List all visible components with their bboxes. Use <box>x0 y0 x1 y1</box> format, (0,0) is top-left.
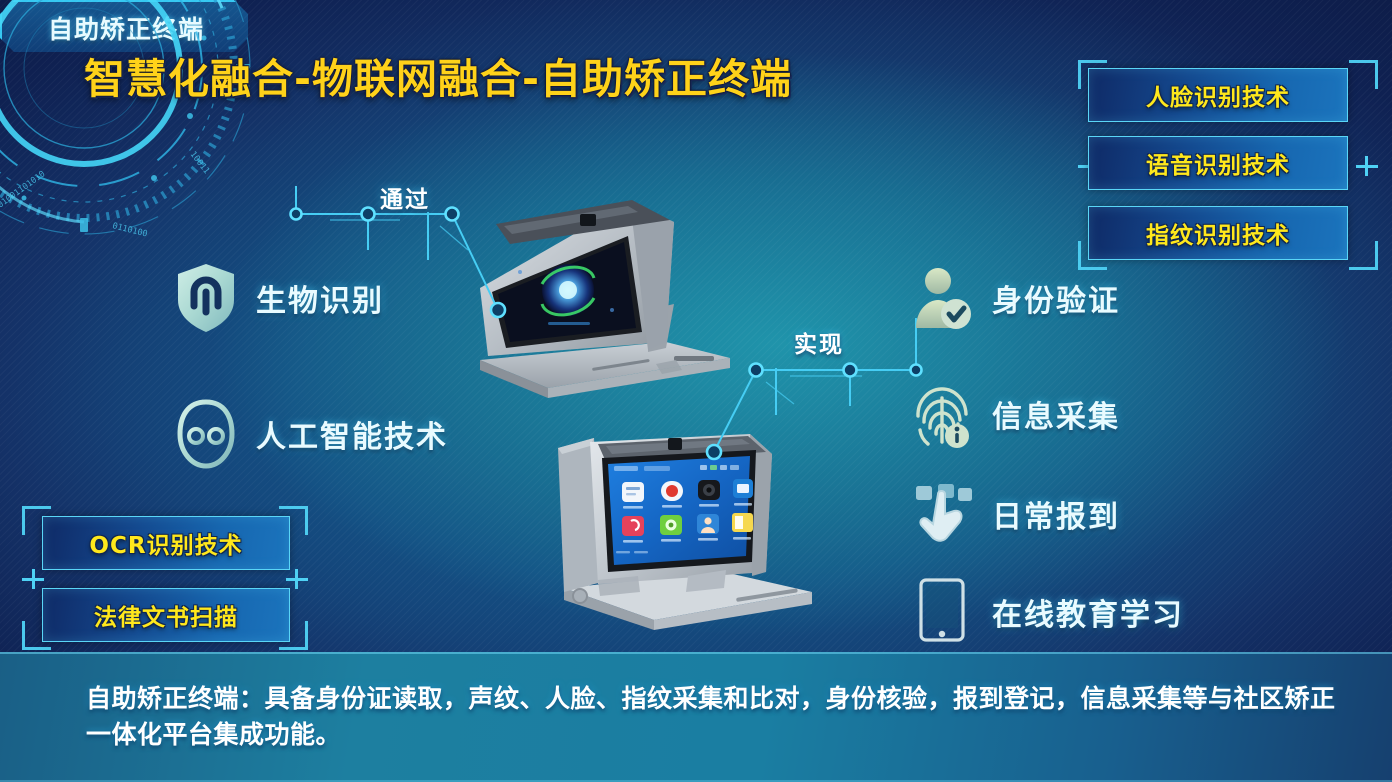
connector-label-realize: 实现 <box>794 325 844 359</box>
svg-text:0110100: 0110100 <box>111 221 148 239</box>
touch-tap-icon <box>908 478 976 550</box>
chip-label: 指纹识别技术 <box>1146 216 1290 250</box>
fingerprint-info-icon <box>908 378 976 450</box>
feature-daily-checkin: 日常报到 <box>908 478 1120 550</box>
chip-label: 语音识别技术 <box>1146 146 1290 180</box>
bracket-corner-icon <box>1349 241 1378 270</box>
kiosk-upper <box>452 192 744 408</box>
feature-label: 信息采集 <box>992 392 1120 436</box>
chip-label: 法律文书扫描 <box>94 598 238 632</box>
feature-label: 身份验证 <box>992 276 1120 320</box>
feature-label: 生物识别 <box>256 276 384 320</box>
user-verified-icon <box>908 262 976 334</box>
caption-bar: 自助矫正终端：具备身份证读取，声纹、人脸、指纹采集和比对，身份核验，报到登记，信… <box>0 652 1392 782</box>
chip-legal-doc-scan[interactable]: 法律文书扫描 <box>42 588 290 642</box>
chip-voice-recognition[interactable]: 语音识别技术 <box>1088 136 1348 190</box>
chip-face-recognition[interactable]: 人脸识别技术 <box>1088 68 1348 122</box>
bracket-tick <box>295 569 298 589</box>
kiosk-lower <box>528 420 834 642</box>
bracket-tick <box>32 569 35 589</box>
caption-text: 自助矫正终端：具备身份证读取，声纹、人脸、指纹采集和比对，身份核验，报到登记，信… <box>0 681 1392 754</box>
connector-label-through: 通过 <box>380 180 430 214</box>
shield-biometric-icon <box>172 262 240 334</box>
page-title: 智慧化融合-物联网融合-自助矫正终端 <box>84 45 792 105</box>
feature-label: 在线教育学习 <box>992 590 1184 634</box>
feature-biometric: 生物识别 <box>172 262 384 334</box>
slide-canvas: 01001101010 1010011001 0110100 10011 智慧化… <box>0 0 1392 782</box>
feature-info-collect: 信息采集 <box>908 378 1120 450</box>
feature-label: 日常报到 <box>992 492 1120 536</box>
feature-label: 人工智能技术 <box>256 412 448 456</box>
chip-label: OCR识别技术 <box>89 526 242 560</box>
feature-identity-verify: 身份验证 <box>908 262 1120 334</box>
chip-fingerprint-recognition[interactable]: 指纹识别技术 <box>1088 206 1348 260</box>
bracket-tick <box>1365 156 1368 176</box>
bracket-corner-icon <box>1349 60 1378 89</box>
chip-label: 人脸识别技术 <box>1146 78 1290 112</box>
chip-ocr[interactable]: OCR识别技术 <box>42 516 290 570</box>
feature-online-education: 在线教育学习 <box>908 576 1184 648</box>
feature-ai: 人工智能技术 <box>172 398 448 470</box>
hud-ring-decoration: 01001101010 1010011001 0110100 10011 <box>0 0 264 248</box>
left-chip-bracket-group: OCR识别技术 法律文书扫描 <box>22 506 308 650</box>
ai-mask-icon <box>172 398 240 470</box>
right-chip-bracket-group: 人脸识别技术 语音识别技术 指纹识别技术 <box>1078 60 1378 270</box>
tablet-icon <box>908 576 976 648</box>
